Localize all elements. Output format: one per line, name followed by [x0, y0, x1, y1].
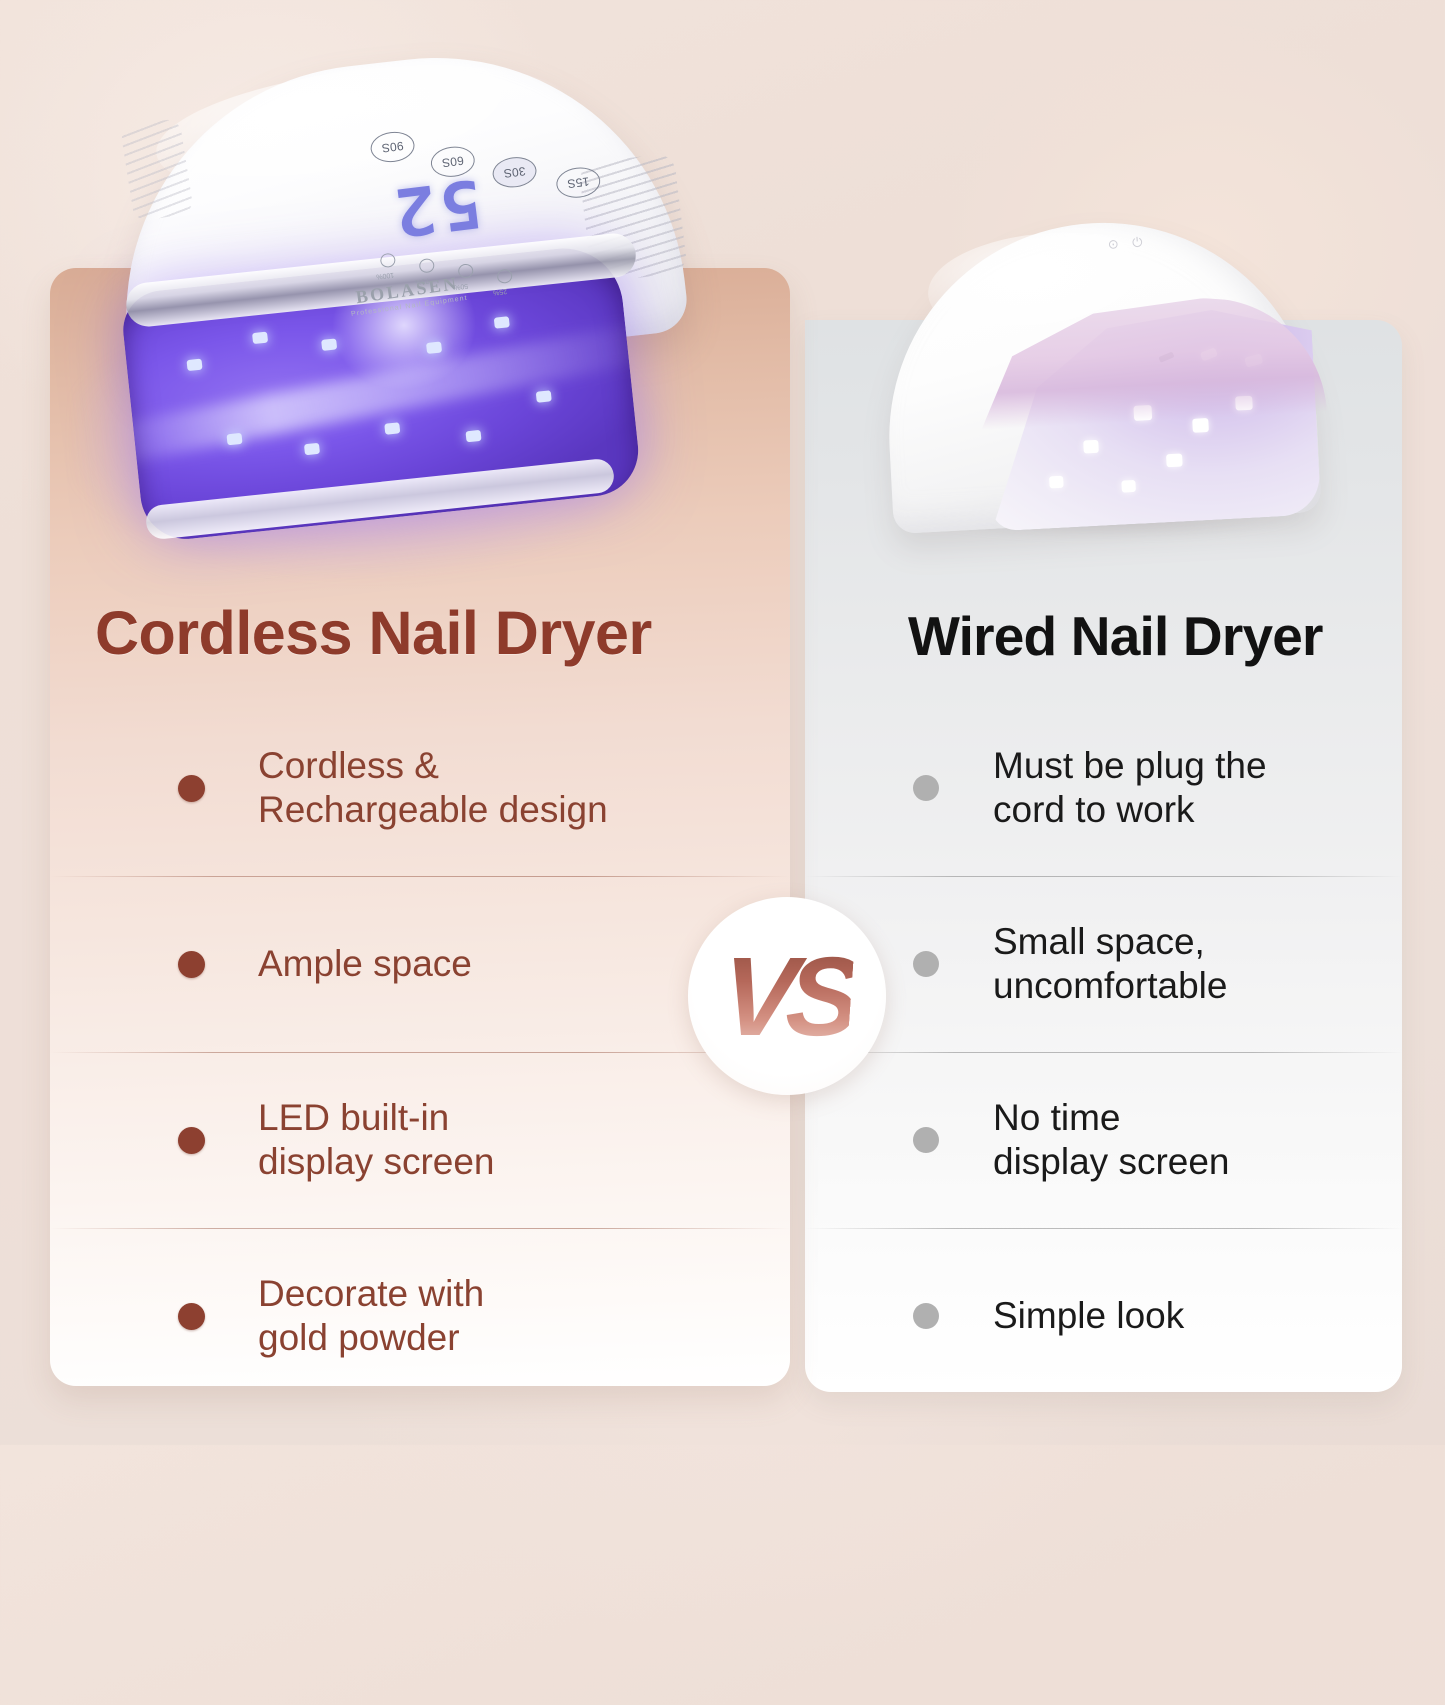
feature-label: Small space,uncomfortable	[993, 920, 1227, 1007]
feature-row: Simple look	[805, 1228, 1402, 1404]
feature-row: No timedisplay screen	[805, 1052, 1402, 1228]
cordless-dryer-body: 90S 60S 30S 15S 52 100% 75% 50% 25% BOLA…	[115, 62, 675, 532]
feature-row: LED built-indisplay screen	[50, 1052, 790, 1228]
feature-row: Ample space	[50, 876, 790, 1052]
feature-label: LED built-indisplay screen	[258, 1096, 495, 1183]
feature-label: Cordless &Rechargeable design	[258, 744, 608, 831]
timer-button-90s[interactable]: 90S	[369, 129, 416, 164]
bullet-icon	[178, 951, 205, 978]
vs-badge: VS	[688, 897, 886, 1095]
feature-label: Must be plug thecord to work	[993, 744, 1267, 831]
battery-label-100: 100%	[376, 271, 395, 280]
feature-label: Decorate withgold powder	[258, 1272, 484, 1359]
page-title-cordless: Cordless Nail Dryer	[95, 598, 652, 668]
feature-row: Cordless &Rechargeable design	[50, 700, 790, 876]
feature-label: Ample space	[258, 942, 472, 986]
bullet-icon	[913, 775, 939, 801]
bullet-icon	[913, 1127, 939, 1153]
timer-button-30s[interactable]: 30S	[491, 155, 538, 190]
wired-nail-dryer-image: ⊙ ⏻	[868, 215, 1338, 545]
bullet-icon	[913, 1303, 939, 1329]
page-title-wired: Wired Nail Dryer	[908, 604, 1323, 668]
feature-list-cordless: Cordless &Rechargeable design Ample spac…	[50, 700, 790, 1404]
feature-row: Decorate withgold powder	[50, 1228, 790, 1404]
vs-label: VS	[718, 932, 856, 1061]
feature-row: Small space,uncomfortable	[805, 876, 1402, 1052]
bullet-icon	[178, 1127, 205, 1154]
timer-display: 52	[386, 164, 487, 252]
bullet-icon	[178, 775, 205, 802]
feature-label: Simple look	[993, 1294, 1184, 1338]
feature-label: No timedisplay screen	[993, 1096, 1230, 1183]
cordless-nail-dryer-image: 90S 60S 30S 15S 52 100% 75% 50% 25% BOLA…	[105, 42, 685, 542]
feature-row: Must be plug thecord to work	[805, 700, 1402, 876]
bullet-icon	[178, 1303, 205, 1330]
timer-button-15s[interactable]: 15S	[555, 165, 602, 200]
feature-list-wired: Must be plug thecord to work Small space…	[805, 700, 1402, 1404]
battery-label-25: 25%	[493, 287, 508, 296]
bullet-icon	[913, 951, 939, 977]
